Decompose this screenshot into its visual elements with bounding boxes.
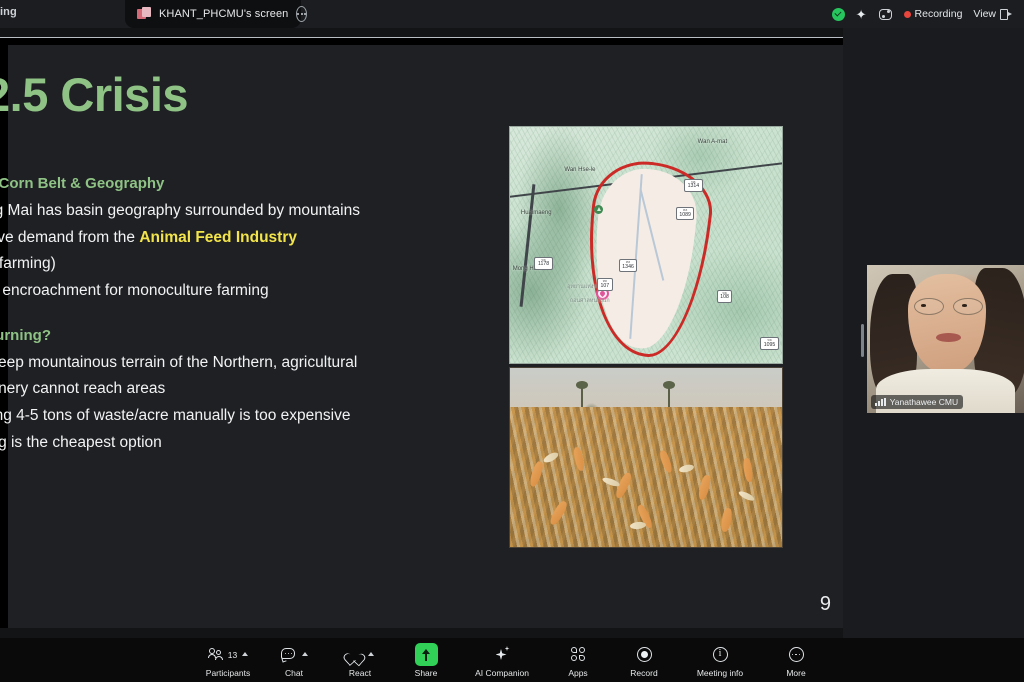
view-button[interactable]: View <box>973 8 1012 20</box>
toolbar-react-button[interactable]: React <box>327 643 393 678</box>
toolbar-record-label: Record <box>630 668 657 678</box>
shared-screen-letterbox <box>0 38 843 45</box>
top-bar-left-text: ing <box>0 6 17 18</box>
participant-name-label: Yanathawee CMU <box>890 397 958 407</box>
road-shield: ทล1178 <box>534 257 552 270</box>
northern-thailand-terrain-map: Wan A-mat Wan Hse-le Huaimaeng Mong Hsai… <box>509 126 783 364</box>
bullet-line: ring 4-5 tons of waste/acre manually is … <box>0 403 506 430</box>
road-shield: ทล107 <box>597 278 613 291</box>
glasses <box>914 298 983 316</box>
screen-share-tab[interactable]: KHANT_PHCMU's screen <box>125 0 301 28</box>
participants-count: 13 <box>228 650 237 660</box>
shield-check-icon <box>832 8 845 21</box>
toolbar-share-button[interactable]: Share <box>393 643 459 678</box>
recording-indicator[interactable]: Recording <box>904 8 963 20</box>
road-shield: ทล1095 <box>760 337 779 350</box>
dried-corn-field-photo <box>509 367 783 548</box>
chat-icon <box>280 646 297 663</box>
map-label: Wan Hse-le <box>564 167 595 173</box>
bullet-pre-text: sive demand from the <box>0 229 139 246</box>
shared-screen-region[interactable]: 2.5 Crisis e Corn Belt & Geography ng Ma… <box>0 28 843 638</box>
map-label: Huaimaeng <box>521 210 552 216</box>
map-label: Wan A-mat <box>698 139 727 145</box>
slide-body: e Corn Belt & Geography ng Mai has basin… <box>0 175 506 456</box>
meeting-toolbar: 13 Participants Chat <box>0 638 1024 682</box>
zoom-meeting-window: ing KHANT_PHCMU's screen ✦ Recordin <box>0 0 1024 682</box>
road-shield: ทล1089 <box>676 207 695 220</box>
toolbar-share-label: Share <box>415 668 438 678</box>
recording-label: Recording <box>915 8 963 20</box>
participant-video-tile[interactable]: Yanathawee CMU <box>867 265 1024 413</box>
apps-icon <box>570 646 587 663</box>
screen-share-icon <box>137 7 151 21</box>
more-icon <box>788 646 805 663</box>
toolbar-chat-button[interactable]: Chat <box>261 643 327 678</box>
security-button[interactable] <box>832 8 845 21</box>
bullet-line: ng Mai has basin geography surrounded by… <box>0 198 506 225</box>
map-label: ถอนศาลหนองแก <box>570 297 610 305</box>
chevron-up-icon[interactable] <box>368 652 374 656</box>
bullet-line: hinery cannot reach areas <box>0 376 506 403</box>
participant-name-badge: Yanathawee CMU <box>871 395 963 409</box>
gesture-recognition-button[interactable] <box>878 8 893 21</box>
share-screen-icon <box>415 643 438 666</box>
toolbar-more-label: More <box>786 668 805 678</box>
top-bar-right-controls: ✦ Recording View <box>832 0 1016 28</box>
slide-media-column: Wan A-mat Wan Hse-le Huaimaeng Mong Hsai… <box>509 126 783 548</box>
toolbar-apps-label: Apps <box>568 668 587 678</box>
slide-title: 2.5 Crisis <box>0 67 188 122</box>
toolbar-ai-companion-button[interactable]: AI Companion <box>459 643 545 678</box>
toolbar-more-button[interactable]: More <box>763 643 829 678</box>
toolbar-ai-companion-label: AI Companion <box>475 668 529 678</box>
layout-view-icon <box>1000 9 1012 20</box>
toolbar-participants-label: Participants <box>206 668 250 678</box>
audio-signal-bars-icon <box>875 398 886 406</box>
road-shield: ทล1314 <box>684 179 703 192</box>
toolbar-apps-button[interactable]: Apps <box>545 643 611 678</box>
road-shield: ทล1346 <box>619 259 638 272</box>
ai-button[interactable]: ✦ <box>856 8 867 21</box>
chevron-up-icon[interactable] <box>242 652 248 656</box>
sparkle-icon: ✦ <box>856 8 867 21</box>
screen-share-tab-label: KHANT_PHCMU's screen <box>159 8 288 20</box>
view-label: View <box>973 8 996 20</box>
section-spacer <box>0 305 506 327</box>
bullet-line: ing is the cheapest option <box>0 430 506 457</box>
section-heading-burning: burning? <box>0 327 506 344</box>
highlighted-term: Animal Feed Industry <box>139 229 297 246</box>
toolbar-react-label: React <box>349 668 371 678</box>
ai-companion-sparkle-icon <box>494 646 511 663</box>
record-icon <box>636 646 653 663</box>
top-bar: ing KHANT_PHCMU's screen ✦ Recordin <box>0 0 1024 28</box>
toolbar-meeting-info-label: Meeting info <box>697 668 743 678</box>
bullet-line: steep mountainous terrain of the Norther… <box>0 350 506 377</box>
section-heading-corn-belt: e Corn Belt & Geography <box>0 175 506 192</box>
toolbar-record-button[interactable]: Record <box>611 643 677 678</box>
bullet-line: st encroachment for monoculture farming <box>0 278 506 305</box>
bullet-line: n farming) <box>0 251 506 278</box>
recording-dot-icon <box>904 11 911 18</box>
presentation-slide: 2.5 Crisis e Corn Belt & Geography ng Ma… <box>0 45 843 628</box>
road-shield: ทล108 <box>717 290 733 303</box>
more-options-icon[interactable] <box>296 6 307 22</box>
toolbar-chat-label: Chat <box>285 668 303 678</box>
react-heart-icon <box>346 646 363 663</box>
toolbar-participants-button[interactable]: 13 Participants <box>195 643 261 678</box>
toolbar-meeting-info-button[interactable]: i Meeting info <box>677 643 763 678</box>
meeting-info-icon: i <box>712 646 729 663</box>
gesture-recognition-icon <box>878 8 893 21</box>
video-side-panel: Yanathawee CMU <box>843 28 1024 638</box>
bullet-line-with-highlight: sive demand from the Animal Feed Industr… <box>0 225 506 252</box>
chevron-up-icon[interactable] <box>302 652 308 656</box>
panel-resize-handle[interactable] <box>861 324 864 357</box>
participants-icon <box>208 646 225 663</box>
slide-page-number: 9 <box>820 593 831 616</box>
